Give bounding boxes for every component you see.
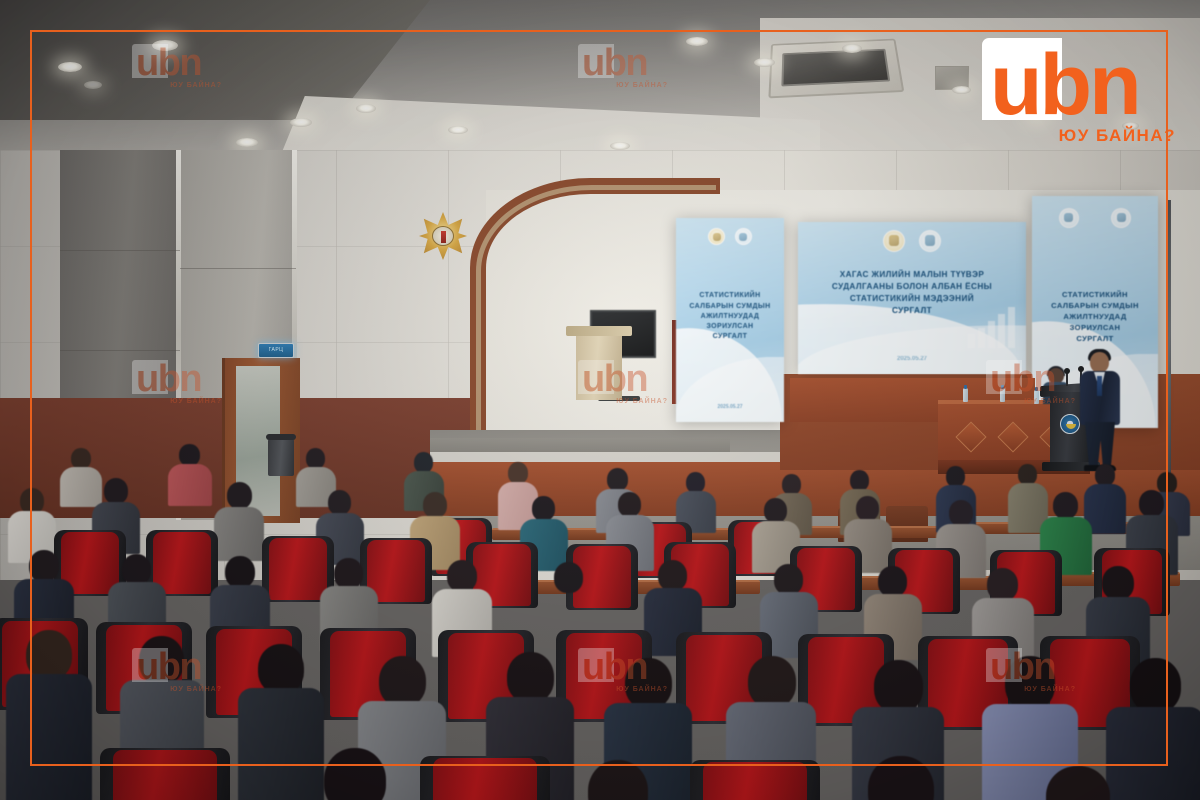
ceiling-downlight [84,81,102,89]
pillar-seam [60,250,180,251]
left-banner-line4: ЗОРИУЛСАН [682,322,777,332]
person-head [423,492,447,518]
person-head [227,482,252,509]
pillar-seam [180,268,296,269]
person-head [1139,490,1164,517]
ubn-brand-logo: ubn ЮУ БАЙНА? [982,38,1178,146]
left-banner-line2: САЛБАРЫН СУМДЫН [682,302,777,312]
person-torso [6,674,92,800]
audience-person [1016,766,1144,800]
ceiling-downlight [952,86,971,94]
air-conditioner-vent [768,39,904,99]
person-head [324,748,386,800]
audience-person [168,444,212,502]
government-emblem-icon [708,228,725,245]
person-head [686,472,705,493]
right-banner-text: СТАТИСТИКИЙН САЛБАРЫН СУМДЫН АЖИЛТНУУДАД… [1040,289,1151,344]
main-screen-text: ХАГАС ЖИЛИЙН МАЛЫН ТҮҮВЭР СУДАЛГААНЫ БОЛ… [812,269,1013,317]
person-head [554,562,583,593]
microphone [1066,372,1068,386]
statistics-office-logo-icon [919,230,941,252]
statistics-office-logo-icon [735,228,752,245]
right-banner-line3: АЖИЛТНУУДАД [1040,311,1151,322]
person-head [26,630,72,680]
person-head [1095,464,1115,486]
state-emblem [419,212,467,260]
government-emblem-icon [883,230,905,252]
presenter-tie [1097,376,1102,396]
audience-person [296,748,416,800]
person-head [874,660,923,713]
person-head [328,490,351,515]
person-head [949,500,973,526]
brand-logo-text: ubn [990,44,1139,126]
ceiling-downlight [290,118,312,127]
screenshot-root: ГАРЦ СТАТИ [0,0,1200,800]
pillar-seam [60,350,180,351]
person-head [850,470,869,491]
left-banner-line5: СУРГАЛТ [682,332,777,342]
person-head [29,550,59,582]
waste-bin [268,438,294,476]
main-screen-line2: СУДАЛГААНЫ БОЛОН АЛБАН ЁСНЫ [812,281,1013,293]
person-head [414,452,433,473]
main-screen-line1: ХАГАС ЖИЛИЙН МАЛЫН ТҮҮВЭР [812,269,1013,281]
government-emblem-icon [1111,208,1131,228]
ceiling-downlight [58,62,82,72]
person-head [334,558,363,589]
screen-logos [798,230,1026,252]
audience-person [214,482,264,556]
person-head [258,644,304,694]
wooden-lectern [576,332,622,400]
water-bottle [1034,390,1039,404]
left-banner-date: 2025.05.27 [676,404,784,410]
exit-sign-label: ГАРЦ [259,344,293,357]
right-banner-line4: ЗОРИУЛСАН [1040,322,1151,333]
audience-area [0,430,1200,800]
right-banner-line5: СУРГАЛТ [1040,333,1151,344]
person-head [588,760,648,800]
person-head [507,652,554,703]
left-banner-line1: СТАТИСТИКИЙН [682,291,777,301]
main-projection-screen: ХАГАС ЖИЛИЙН МАЛЫН ТҮҮВЭР СУДАЛГААНЫ БОЛ… [798,222,1026,374]
person-torso [168,464,212,506]
ceiling-downlight [152,40,178,51]
main-screen-date: 2025.05.27 [798,356,1026,362]
statistics-office-logo-icon [1059,208,1079,228]
person-torso [214,507,264,561]
banner-logos [1032,208,1158,228]
auditorium-seat [420,756,550,800]
emblem-center-medallion [432,226,454,246]
water-bottle [1000,388,1005,402]
person-head [532,496,555,521]
presenter-head [1090,352,1109,373]
person-head [379,656,426,707]
conference-hall-photo: ГАРЦ СТАТИ [0,0,1200,800]
person-head [139,636,184,685]
person-head [179,444,200,466]
person-head [782,474,801,495]
person-head [856,496,879,521]
person-head [71,448,91,469]
person-head [508,462,528,484]
exit-sign: ГАРЦ [258,343,294,358]
audience-person [6,630,92,800]
audience-person [836,756,966,800]
person-head [774,564,803,595]
person-head [946,466,965,487]
person-head [868,756,934,800]
ceiling-downlight [686,37,708,46]
person-head [122,554,151,585]
auditorium-seat [690,760,820,800]
person-head [225,556,255,588]
person-head [618,492,641,517]
wooden-lectern-top [566,326,632,336]
ceiling-downlight [356,104,376,113]
person-head [447,560,477,592]
person-head [306,448,325,469]
person-head [1102,566,1134,600]
person-head [104,478,128,504]
banner-logos [676,228,784,245]
person-head [987,568,1018,601]
main-screen-line4: СУРГАЛТ [812,305,1013,317]
ceiling-downlight [236,138,258,147]
person-head [748,656,796,708]
person-head [607,468,628,491]
water-bottle [963,388,968,402]
ceiling-downlight [448,126,468,134]
person-head [878,566,907,597]
person-head [658,560,687,591]
audience-person [560,760,678,800]
ceiling-downlight [610,142,630,150]
audience-person [8,488,56,558]
person-head [764,498,787,523]
auditorium-seat [100,748,230,800]
person-head [1046,766,1110,800]
ceiling-downlight [754,58,775,67]
left-banner-line3: АЖИЛТНУУДАД [682,312,777,322]
main-screen-line3: СТАТИСТИКИЙН МЭДЭЭНИЙ [812,293,1013,305]
left-roll-up-banner: СТАТИСТИКИЙН САЛБАРЫН СУМДЫН АЖИЛТНУУДАД… [676,218,784,422]
person-head [1053,492,1078,519]
left-banner-text: СТАТИСТИКИЙН САЛБАРЫН СУМДЫН АЖИЛТНУУДАД… [682,291,777,342]
person-head [1005,656,1055,710]
person-head [1018,464,1037,485]
right-banner-line2: САЛБАРЫН СУМДЫН [1040,300,1151,311]
brand-tagline: ЮУ БАЙНА? [1059,126,1176,146]
ceiling-downlight [842,44,862,53]
right-banner-line1: СТАТИСТИКИЙН [1040,289,1151,300]
person-head [625,658,672,709]
person-head [1130,658,1181,713]
